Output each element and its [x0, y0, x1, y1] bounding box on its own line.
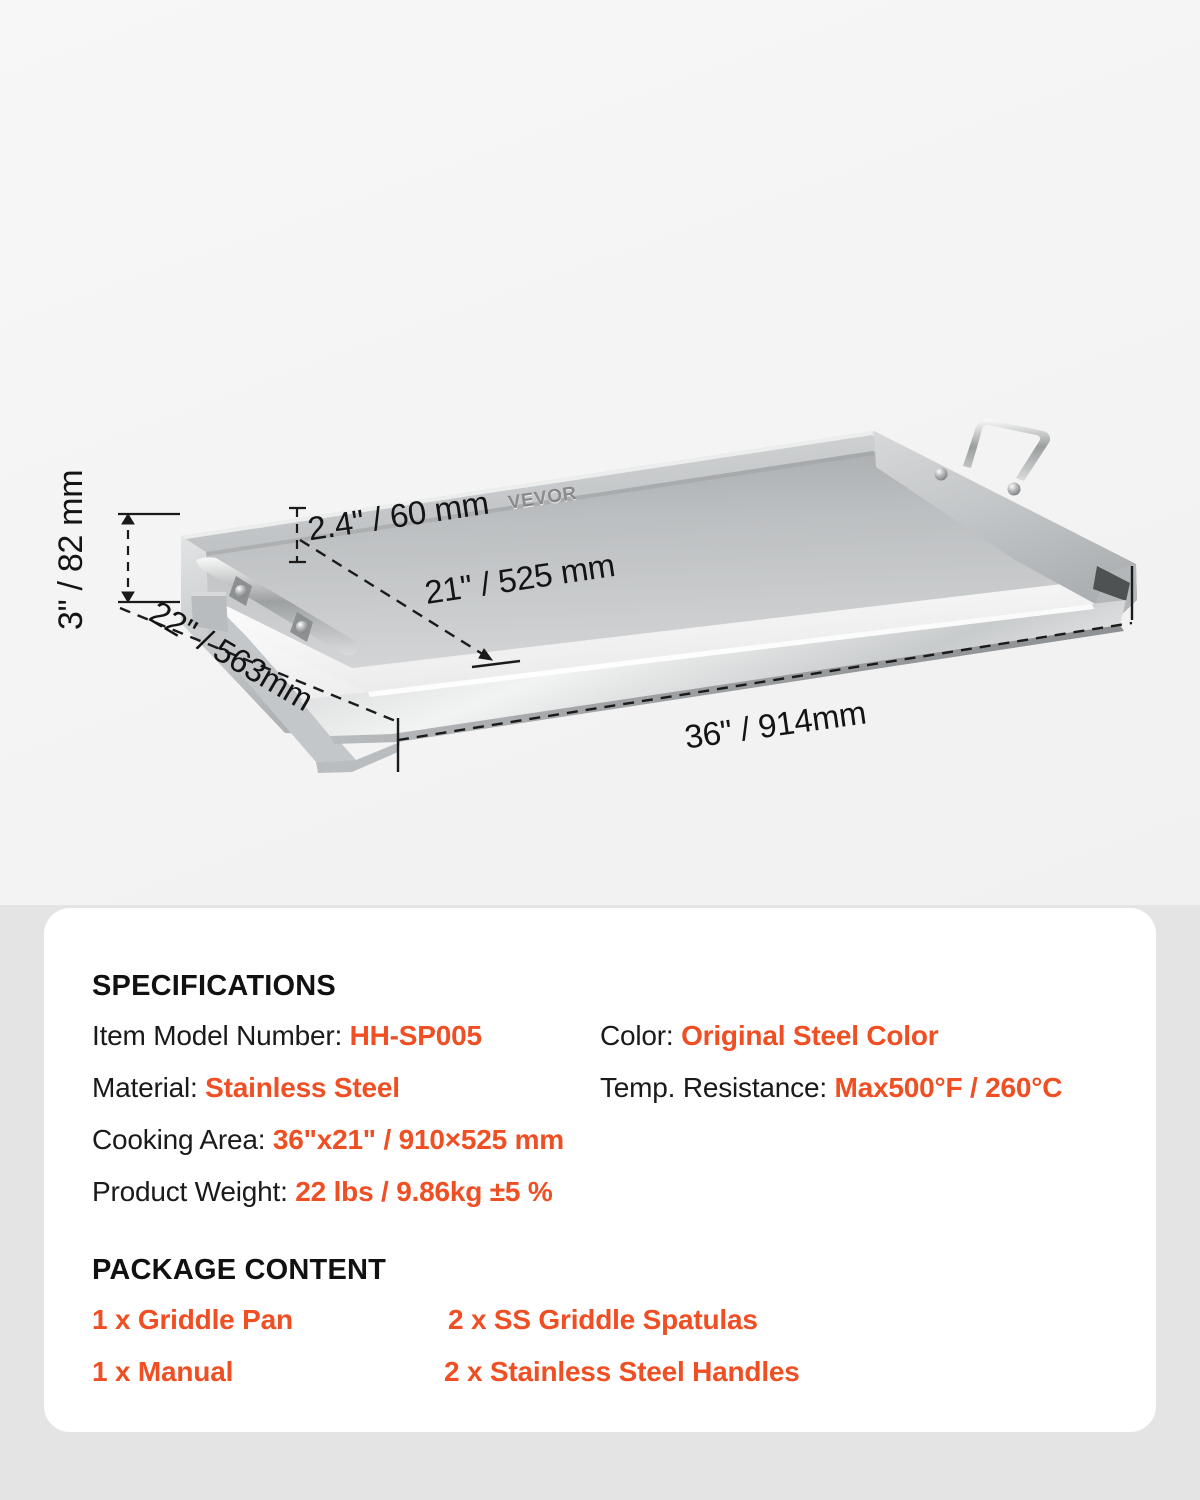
spec-value-cooking-area: 36"x21" / 910×525 mm: [273, 1124, 564, 1155]
spec-key-cooking-area: Cooking Area:: [92, 1124, 273, 1155]
spec-row-material: Material: Stainless Steel: [92, 1072, 400, 1104]
dimension-label-height: 3" / 82 mm: [52, 470, 91, 630]
spec-value-color: Original Steel Color: [681, 1020, 938, 1051]
spec-key-color: Color:: [600, 1020, 681, 1051]
spec-value-model: HH-SP005: [350, 1020, 482, 1051]
spec-key-material: Material:: [92, 1072, 205, 1103]
package-item-handles: 2 x Stainless Steel Handles: [444, 1356, 800, 1388]
griddle-pan-illustration: [0, 0, 1200, 905]
spec-row-color: Color: Original Steel Color: [600, 1020, 938, 1052]
spec-row-model: Item Model Number: HH-SP005: [92, 1020, 482, 1052]
spec-key-weight: Product Weight:: [92, 1176, 295, 1207]
package-item-manual: 1 x Manual: [92, 1356, 233, 1388]
product-hero: VEVOR 3" / 82 mm 2.4" / 60 mm 21" / 525 …: [0, 0, 1200, 905]
specifications-card: SPECIFICATIONS Item Model Number: HH-SP0…: [44, 908, 1156, 1432]
spec-value-material: Stainless Steel: [205, 1072, 400, 1103]
spec-key-model: Item Model Number:: [92, 1020, 350, 1051]
spec-row-cooking-area: Cooking Area: 36"x21" / 910×525 mm: [92, 1124, 564, 1156]
rivet-lower: [1008, 483, 1021, 496]
spec-value-temperature: Max500°F / 260°C: [835, 1072, 1063, 1103]
product-image-stage: VEVOR 3" / 82 mm 2.4" / 60 mm 21" / 525 …: [0, 0, 1200, 905]
package-item-griddle-pan: 1 x Griddle Pan: [92, 1304, 293, 1336]
package-item-spatulas: 2 x SS Griddle Spatulas: [448, 1304, 758, 1336]
spec-key-temperature: Temp. Resistance:: [600, 1072, 835, 1103]
rivet-upper: [935, 468, 948, 481]
package-content-heading: PACKAGE CONTENT: [92, 1254, 386, 1287]
spec-row-temperature: Temp. Resistance: Max500°F / 260°C: [600, 1072, 1062, 1104]
specifications-heading: SPECIFICATIONS: [92, 970, 336, 1003]
wire-handle-right: [963, 419, 1050, 481]
spec-row-weight: Product Weight: 22 lbs / 9.86kg ±5 %: [92, 1176, 553, 1208]
spec-value-weight: 22 lbs / 9.86kg ±5 %: [295, 1176, 552, 1207]
